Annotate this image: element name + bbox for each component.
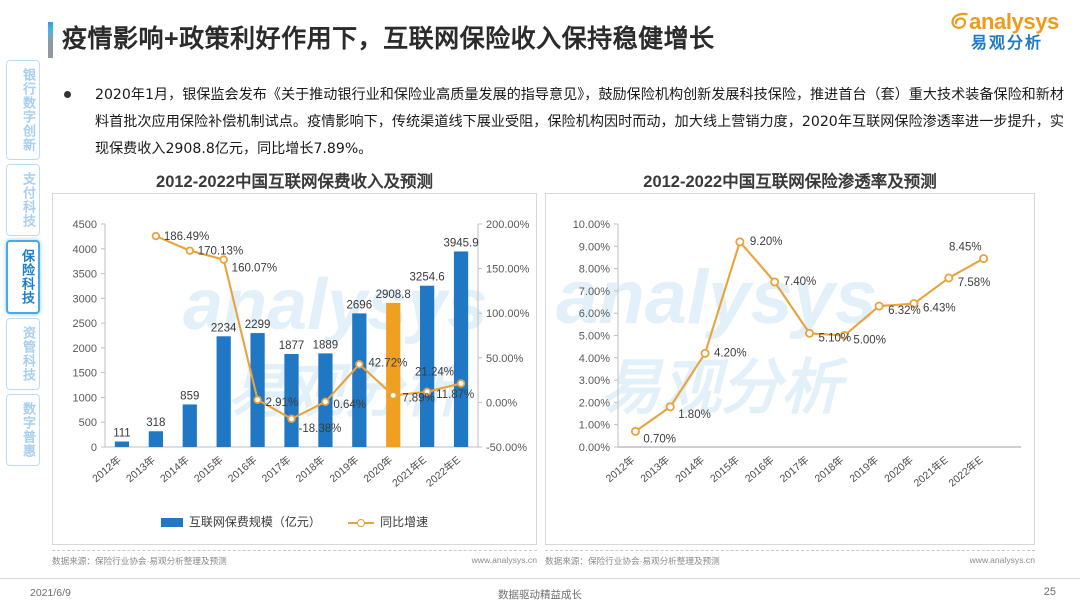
sidebar-item-insurance-tech[interactable]: 保险科技	[6, 240, 40, 314]
svg-text:200.00%: 200.00%	[486, 219, 530, 231]
svg-text:2000: 2000	[73, 343, 97, 355]
svg-text:2015年: 2015年	[191, 453, 225, 485]
svg-text:2021年E: 2021年E	[389, 453, 429, 489]
sidebar-item-digital-inclusive[interactable]: 数字普惠	[6, 394, 40, 466]
svg-text:1877: 1877	[279, 340, 305, 352]
right-chart-source-text: 数据来源：保险行业协会·易观分析整理及预测	[545, 555, 720, 567]
svg-text:10.00%: 10.00%	[573, 219, 611, 231]
svg-text:2016年: 2016年	[225, 453, 259, 485]
left-chart-source-text: 数据来源：保险行业协会·易观分析整理及预测	[52, 555, 227, 567]
svg-text:42.72%: 42.72%	[368, 357, 407, 369]
svg-text:2017年: 2017年	[777, 453, 811, 485]
svg-text:2908.8: 2908.8	[376, 289, 411, 301]
svg-text:50.00%: 50.00%	[486, 353, 524, 365]
svg-text:2018年: 2018年	[293, 453, 327, 485]
svg-text:4000: 4000	[73, 244, 97, 256]
svg-text:2021年E: 2021年E	[911, 453, 951, 489]
svg-text:500: 500	[79, 417, 97, 429]
svg-text:8.00%: 8.00%	[579, 264, 610, 276]
left-chart-legend: 互联网保费规模（亿元） 同比增速	[52, 513, 537, 530]
svg-text:4.20%: 4.20%	[714, 347, 747, 359]
svg-text:-50.00%: -50.00%	[486, 442, 527, 454]
legend-line-swatch	[348, 518, 374, 527]
svg-text:2014年: 2014年	[157, 453, 191, 485]
svg-text:1889: 1889	[313, 339, 339, 351]
sidebar-item-payment-tech[interactable]: 支付科技	[6, 164, 40, 236]
left-chart-plot: 050010001500200025003000350040004500-50.…	[53, 194, 538, 546]
svg-text:3.00%: 3.00%	[579, 375, 610, 387]
svg-text:0.00%: 0.00%	[579, 442, 610, 454]
left-chart-source-row: 数据来源：保险行业协会·易观分析整理及预测 www.analysys.cn	[52, 550, 537, 567]
bullet-paragraph-text: 2020年1月，银保监会发布《关于推动银行业和保险业高质量发展的指导意见》，鼓励…	[95, 82, 1064, 163]
logo-swirl-icon	[950, 11, 970, 31]
svg-text:0: 0	[91, 442, 97, 454]
slide-page: 疫情影响+政策利好作用下，互联网保险收入保持稳健增长 analysys 易观分析…	[0, 0, 1080, 608]
legend-bar-label: 互联网保费规模（亿元）	[189, 515, 321, 529]
right-chart-panel: analysys 易观分析 0.00%1.00%2.00%3.00%4.00%5…	[545, 193, 1035, 545]
svg-text:5.00%: 5.00%	[579, 331, 610, 343]
sidebar-item-bank-digital[interactable]: 银行数字创新	[6, 60, 40, 160]
sidebar-item-asset-mgmt-tech[interactable]: 资管科技	[6, 318, 40, 390]
svg-text:0.00%: 0.00%	[486, 397, 517, 409]
svg-text:2022年E: 2022年E	[946, 453, 986, 489]
svg-text:4.00%: 4.00%	[579, 353, 610, 365]
svg-text:111: 111	[113, 427, 130, 439]
svg-text:3254.6: 3254.6	[410, 272, 445, 284]
svg-text:2022年E: 2022年E	[423, 453, 463, 489]
slide-header: 疫情影响+政策利好作用下，互联网保险收入保持稳健增长 analysys 易观分析	[0, 0, 1080, 72]
svg-text:2013年: 2013年	[123, 453, 157, 485]
svg-text:2.00%: 2.00%	[579, 397, 610, 409]
svg-text:186.49%: 186.49%	[164, 231, 209, 243]
svg-text:3945.9: 3945.9	[443, 237, 478, 249]
svg-text:9.20%: 9.20%	[750, 236, 783, 248]
sidebar-nav: 银行数字创新 支付科技 保险科技 资管科技 数字普惠	[6, 60, 42, 470]
svg-text:5.10%: 5.10%	[819, 332, 852, 344]
legend-item-line: 同比增速	[348, 513, 428, 530]
right-chart-source-row: 数据来源：保险行业协会·易观分析整理及预测 www.analysys.cn	[545, 550, 1035, 567]
svg-text:7.40%: 7.40%	[784, 276, 817, 288]
svg-text:6.32%: 6.32%	[888, 305, 921, 317]
svg-text:2018年: 2018年	[812, 453, 846, 485]
svg-text:3500: 3500	[73, 269, 97, 281]
svg-text:1500: 1500	[73, 368, 97, 380]
svg-text:2017年: 2017年	[259, 453, 293, 485]
legend-item-bar: 互联网保费规模（亿元）	[161, 513, 321, 530]
svg-text:5.00%: 5.00%	[853, 335, 886, 347]
svg-text:160.07%: 160.07%	[232, 263, 277, 275]
page-title: 疫情影响+政策利好作用下，互联网保险收入保持稳健增长	[62, 20, 715, 58]
svg-text:0.70%: 0.70%	[643, 433, 676, 445]
svg-text:8.45%: 8.45%	[949, 242, 982, 254]
svg-text:2012年: 2012年	[90, 453, 124, 485]
logo-wordmark: analysys	[948, 10, 1066, 34]
svg-text:11.87%: 11.87%	[436, 389, 474, 401]
right-chart-title: 2012-2022中国互联网保险渗透率及预测	[545, 168, 1035, 192]
slide-footer: 2021/6/9 数据驱动精益成长 25	[0, 578, 1080, 608]
svg-text:100.00%: 100.00%	[486, 308, 530, 320]
bullet-dot-icon	[64, 91, 71, 98]
svg-text:2014年: 2014年	[673, 453, 707, 485]
svg-text:7.89%: 7.89%	[402, 392, 435, 404]
svg-text:2299: 2299	[245, 319, 271, 331]
left-chart-title: 2012-2022中国互联网保费收入及预测	[52, 168, 537, 192]
bullet-paragraph-row: 2020年1月，银保监会发布《关于推动银行业和保险业高质量发展的指导意见》，鼓励…	[64, 82, 1064, 163]
svg-text:4500: 4500	[73, 219, 97, 231]
svg-text:1000: 1000	[73, 392, 97, 404]
svg-text:2013年: 2013年	[638, 453, 672, 485]
svg-text:170.13%: 170.13%	[198, 246, 243, 258]
footer-page-number: 25	[1044, 586, 1056, 598]
svg-text:1.00%: 1.00%	[579, 420, 610, 432]
left-chart-source-url: www.analysys.cn	[472, 555, 537, 565]
svg-text:2.91%: 2.91%	[266, 397, 299, 409]
left-chart-panel: analysys 易观分析 05001000150020002500300035…	[52, 193, 537, 545]
svg-text:9.00%: 9.00%	[579, 241, 610, 253]
svg-text:21.24%: 21.24%	[415, 366, 454, 378]
svg-text:7.00%: 7.00%	[579, 286, 610, 298]
logo-chinese-text: 易观分析	[948, 34, 1066, 54]
svg-text:2012年: 2012年	[603, 453, 637, 485]
svg-text:3000: 3000	[73, 293, 97, 305]
title-accent-bar	[48, 22, 53, 58]
svg-text:2015年: 2015年	[707, 453, 741, 485]
svg-text:6.43%: 6.43%	[923, 303, 956, 315]
svg-text:2016年: 2016年	[742, 453, 776, 485]
logo-word-text: analysys	[969, 9, 1059, 34]
svg-text:1.80%: 1.80%	[678, 409, 711, 421]
svg-text:318: 318	[146, 417, 165, 429]
svg-text:859: 859	[180, 390, 199, 402]
svg-text:2234: 2234	[211, 322, 237, 334]
svg-text:2696: 2696	[347, 299, 373, 311]
svg-text:2019年: 2019年	[847, 453, 881, 485]
svg-text:6.00%: 6.00%	[579, 308, 610, 320]
svg-text:7.58%: 7.58%	[958, 277, 991, 289]
footer-slogan: 数据驱动精益成长	[0, 587, 1080, 602]
svg-text:150.00%: 150.00%	[486, 264, 530, 276]
right-chart-plot: 0.00%1.00%2.00%3.00%4.00%5.00%6.00%7.00%…	[546, 194, 1036, 546]
analysys-logo: analysys 易观分析	[948, 10, 1066, 60]
svg-text:-18.38%: -18.38%	[299, 423, 342, 435]
legend-line-label: 同比增速	[380, 515, 428, 529]
svg-text:2019年: 2019年	[327, 453, 361, 485]
legend-bar-swatch	[161, 518, 183, 527]
right-chart-source-url: www.analysys.cn	[970, 555, 1035, 565]
svg-text:2500: 2500	[73, 318, 97, 330]
svg-text:0.64%: 0.64%	[333, 399, 366, 411]
